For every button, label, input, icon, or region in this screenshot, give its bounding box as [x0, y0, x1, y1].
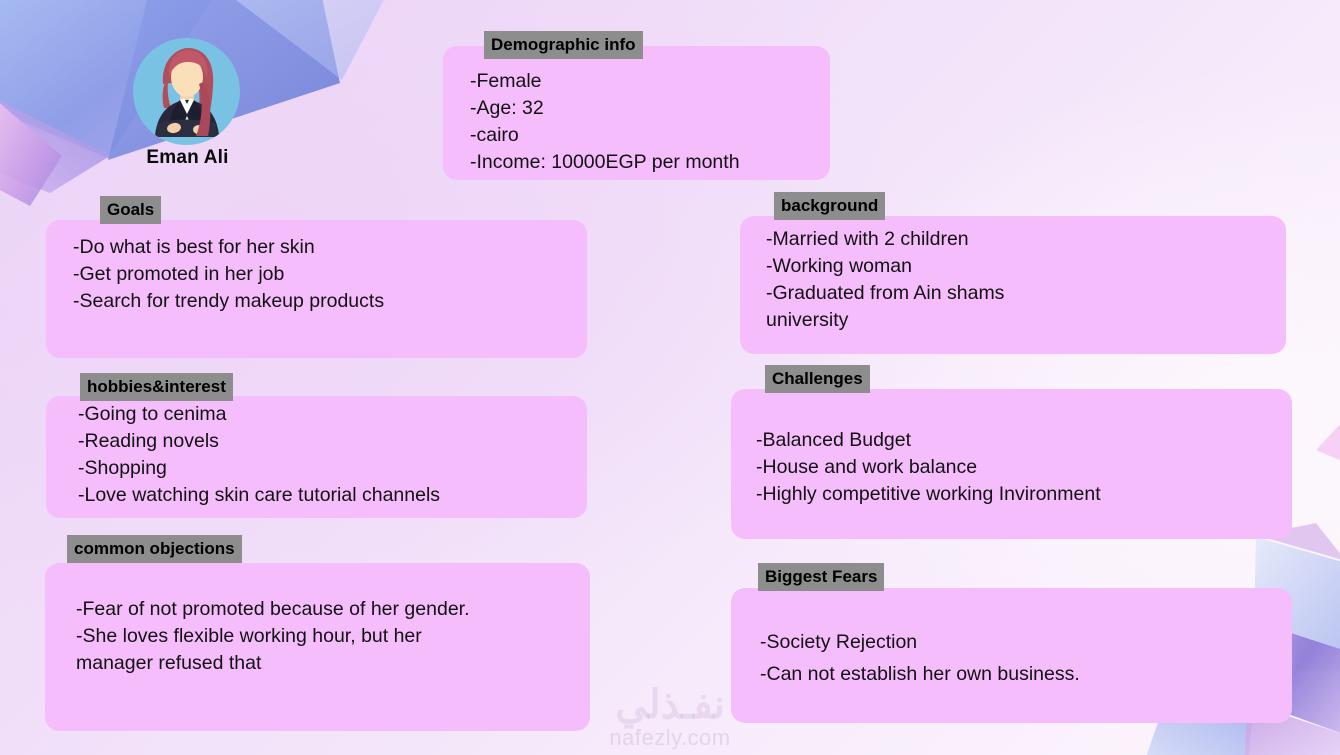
woman-avatar-icon — [133, 38, 240, 145]
card-body-hobbies-interest: -Going to cenima -Reading novels -Shoppi… — [78, 401, 440, 509]
card-label-demographic-info: Demographic info — [484, 31, 643, 59]
card-body-challenges: -Balanced Budget -House and work balance… — [756, 427, 1101, 508]
persona-board: Eman Ali Demographic info -Female -Age: … — [0, 0, 1340, 755]
card-body-background: -Married with 2 children -Working woman … — [766, 226, 1004, 334]
card-label-biggest-fears: Biggest Fears — [758, 563, 884, 591]
card-body-biggest-fears: -Society Rejection -Can not establish he… — [760, 626, 1080, 690]
card-label-background: background — [774, 192, 885, 220]
card-body-common-objections: -Fear of not promoted because of her gen… — [76, 596, 470, 677]
card-body-goals: -Do what is best for her skin -Get promo… — [73, 234, 384, 315]
avatar — [133, 38, 240, 145]
woman-illustration-icon — [133, 38, 240, 145]
persona-name: Eman Ali — [70, 147, 305, 169]
card-label-hobbies-interest: hobbies&interest — [80, 373, 233, 401]
card-body-demographic-info: -Female -Age: 32 -cairo -Income: 10000EG… — [470, 68, 740, 176]
card-label-common-objections: common objections — [67, 535, 242, 563]
card-label-challenges: Challenges — [765, 365, 870, 393]
card-label-goals: Goals — [100, 196, 161, 224]
